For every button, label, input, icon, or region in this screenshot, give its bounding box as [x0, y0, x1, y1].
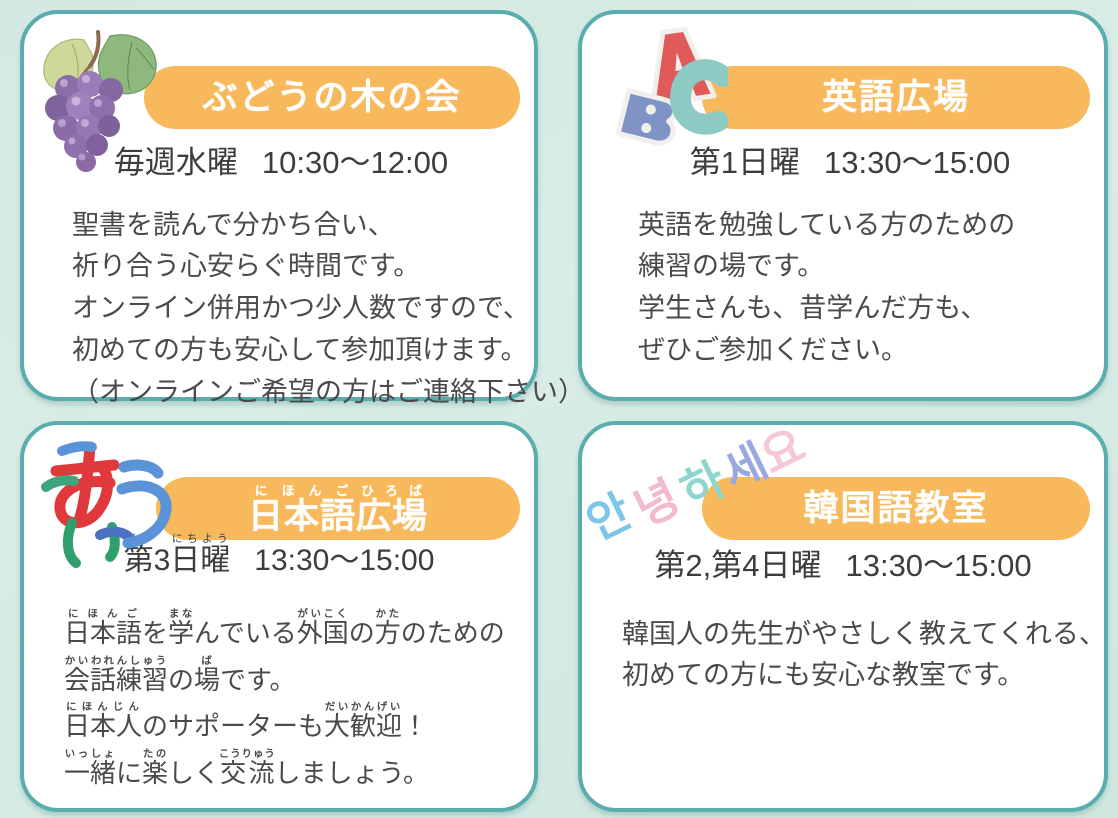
schedule-day: 第1日曜: [690, 145, 800, 180]
card-slot-budou: ぶどうの木の会 毎週水曜10:30〜12:00 聖書を読んで分かち合い、 祈り合…: [0, 0, 558, 409]
card-body: 第1日曜13:30〜15:00 英語を勉強している方のための 練習の場です。 学…: [582, 140, 1104, 372]
card-title-banner: 韓国語教室: [702, 477, 1090, 540]
schedule-time: 13:30〜15:00: [824, 145, 1010, 180]
schedule-line: 第2,第4日曜13:30〜15:00: [608, 543, 1078, 590]
card-title: 韓国語教室: [803, 491, 988, 526]
events-board: ぶどうの木の会 毎週水曜10:30〜12:00 聖書を読んで分かち合い、 祈り合…: [0, 0, 1118, 818]
schedule-day-number: 3: [154, 544, 171, 577]
card-body: 毎週水曜10:30〜12:00 聖書を読んで分かち合い、 祈り合う心安らぐ時間で…: [24, 140, 534, 414]
description-line: 日本語にほんごを学まなんでいる外国がいこくの方かたのための: [64, 609, 508, 656]
event-card-budou-no-ki-no-kai[interactable]: ぶどうの木の会 毎週水曜10:30〜12:00 聖書を読んで分かち合い、 祈り合…: [20, 10, 538, 401]
event-card-nihongo-hiroba[interactable]: 日本語にほんご広場ひろば 第だい3日曜にちよう13:30〜15:00 日本語にほ…: [20, 421, 538, 812]
svg-text:안: 안: [584, 484, 640, 551]
description-line: オンライン併用かつ少人数ですので、: [72, 288, 508, 330]
card-title: 日本語にほんご広場ひろば: [248, 484, 428, 534]
description-line: 韓国人の先生がやさしく教えてくれる、: [622, 614, 1078, 656]
description-line: 初めての方も安心して参加頂けます。: [72, 330, 508, 372]
event-card-kankokugo-kyoushitsu[interactable]: 안 녕 하 세 요 韓国語教室 第2,第4日曜13:30〜15:00 韓国人の先…: [578, 421, 1108, 812]
title-ruby-nihongo: 日本語にほんご: [248, 497, 356, 536]
schedule-day: 第2,第4日曜: [654, 548, 821, 583]
svg-text:녕: 녕: [626, 470, 688, 537]
card-slot-eigo: 英語広場 第1日曜13:30〜15:00 英語を勉強している方のための 練習の場…: [558, 0, 1118, 409]
title-ruby-hiroba: 広場ひろば: [356, 497, 428, 536]
description-line: 一緒いっしょに楽たのしく交流こうりゅうしましょう。: [64, 749, 508, 796]
description: 韓国人の先生がやさしく教えてくれる、 初めての方にも安心な教室です。: [608, 614, 1078, 698]
description-line: 会話練習かいわれんしゅうの場ばです。: [64, 656, 508, 703]
card-slot-nihongo: 日本語にほんご広場ひろば 第だい3日曜にちよう13:30〜15:00 日本語にほ…: [0, 409, 558, 818]
schedule-day: 毎週水曜: [114, 145, 238, 180]
card-title-banner: 日本語にほんご広場ひろば: [156, 477, 520, 540]
description-line: 日本人にほんじんのサポーターも大歓迎だいかんげい！: [64, 702, 508, 749]
description-line: 祈り合う心安らぐ時間です。: [72, 246, 508, 288]
description-line: 学生さんも、昔学んだ方も、: [638, 288, 1078, 330]
schedule-line: 第1日曜13:30〜15:00: [608, 140, 1078, 187]
card-body: 第だい3日曜にちよう13:30〜15:00 日本語にほんごを学まなんでいる外国が…: [24, 533, 534, 796]
description-line: 練習の場です。: [638, 246, 1078, 288]
schedule-day-ruby: 日曜にちよう: [170, 544, 230, 577]
description-note: （オンラインご希望の方はご連絡下さい）: [72, 372, 508, 414]
description-line: 初めての方にも安心な教室です。: [622, 655, 1078, 697]
schedule-time: 10:30〜12:00: [262, 145, 448, 180]
schedule-time: 13:30〜15:00: [845, 548, 1031, 583]
card-body: 第2,第4日曜13:30〜15:00 韓国人の先生がやさしく教えてくれる、 初め…: [582, 543, 1104, 697]
schedule-time: 13:30〜15:00: [254, 544, 434, 577]
card-slot-kankokugo: 안 녕 하 세 요 韓国語教室 第2,第4日曜13:30〜15:00 韓国人の先…: [558, 409, 1118, 818]
card-title-banner: 英語広場: [702, 66, 1090, 129]
card-title: 英語広場: [822, 80, 970, 115]
card-title-banner: ぶどうの木の会: [144, 66, 520, 129]
description: 日本語にほんごを学まなんでいる外国がいこくの方かたのための 会話練習かいわれんし…: [50, 609, 508, 796]
schedule-line: 第だい3日曜にちよう13:30〜15:00: [50, 533, 508, 583]
event-card-eigo-hiroba[interactable]: 英語広場 第1日曜13:30〜15:00 英語を勉強している方のための 練習の場…: [578, 10, 1108, 401]
schedule-line: 毎週水曜10:30〜12:00: [54, 140, 508, 187]
description-line: 聖書を読んで分かち合い、: [72, 205, 508, 247]
card-title: ぶどうの木の会: [202, 80, 461, 115]
description: 聖書を読んで分かち合い、 祈り合う心安らぐ時間です。 オンライン併用かつ少人数で…: [54, 205, 508, 414]
description-line: ぜひご参加ください。: [638, 330, 1078, 372]
description: 英語を勉強している方のための 練習の場です。 学生さんも、昔学んだ方も、 ぜひご…: [608, 205, 1078, 372]
schedule-day-ruby: 第だい: [124, 544, 154, 577]
description-line: 英語を勉強している方のための: [638, 205, 1078, 247]
